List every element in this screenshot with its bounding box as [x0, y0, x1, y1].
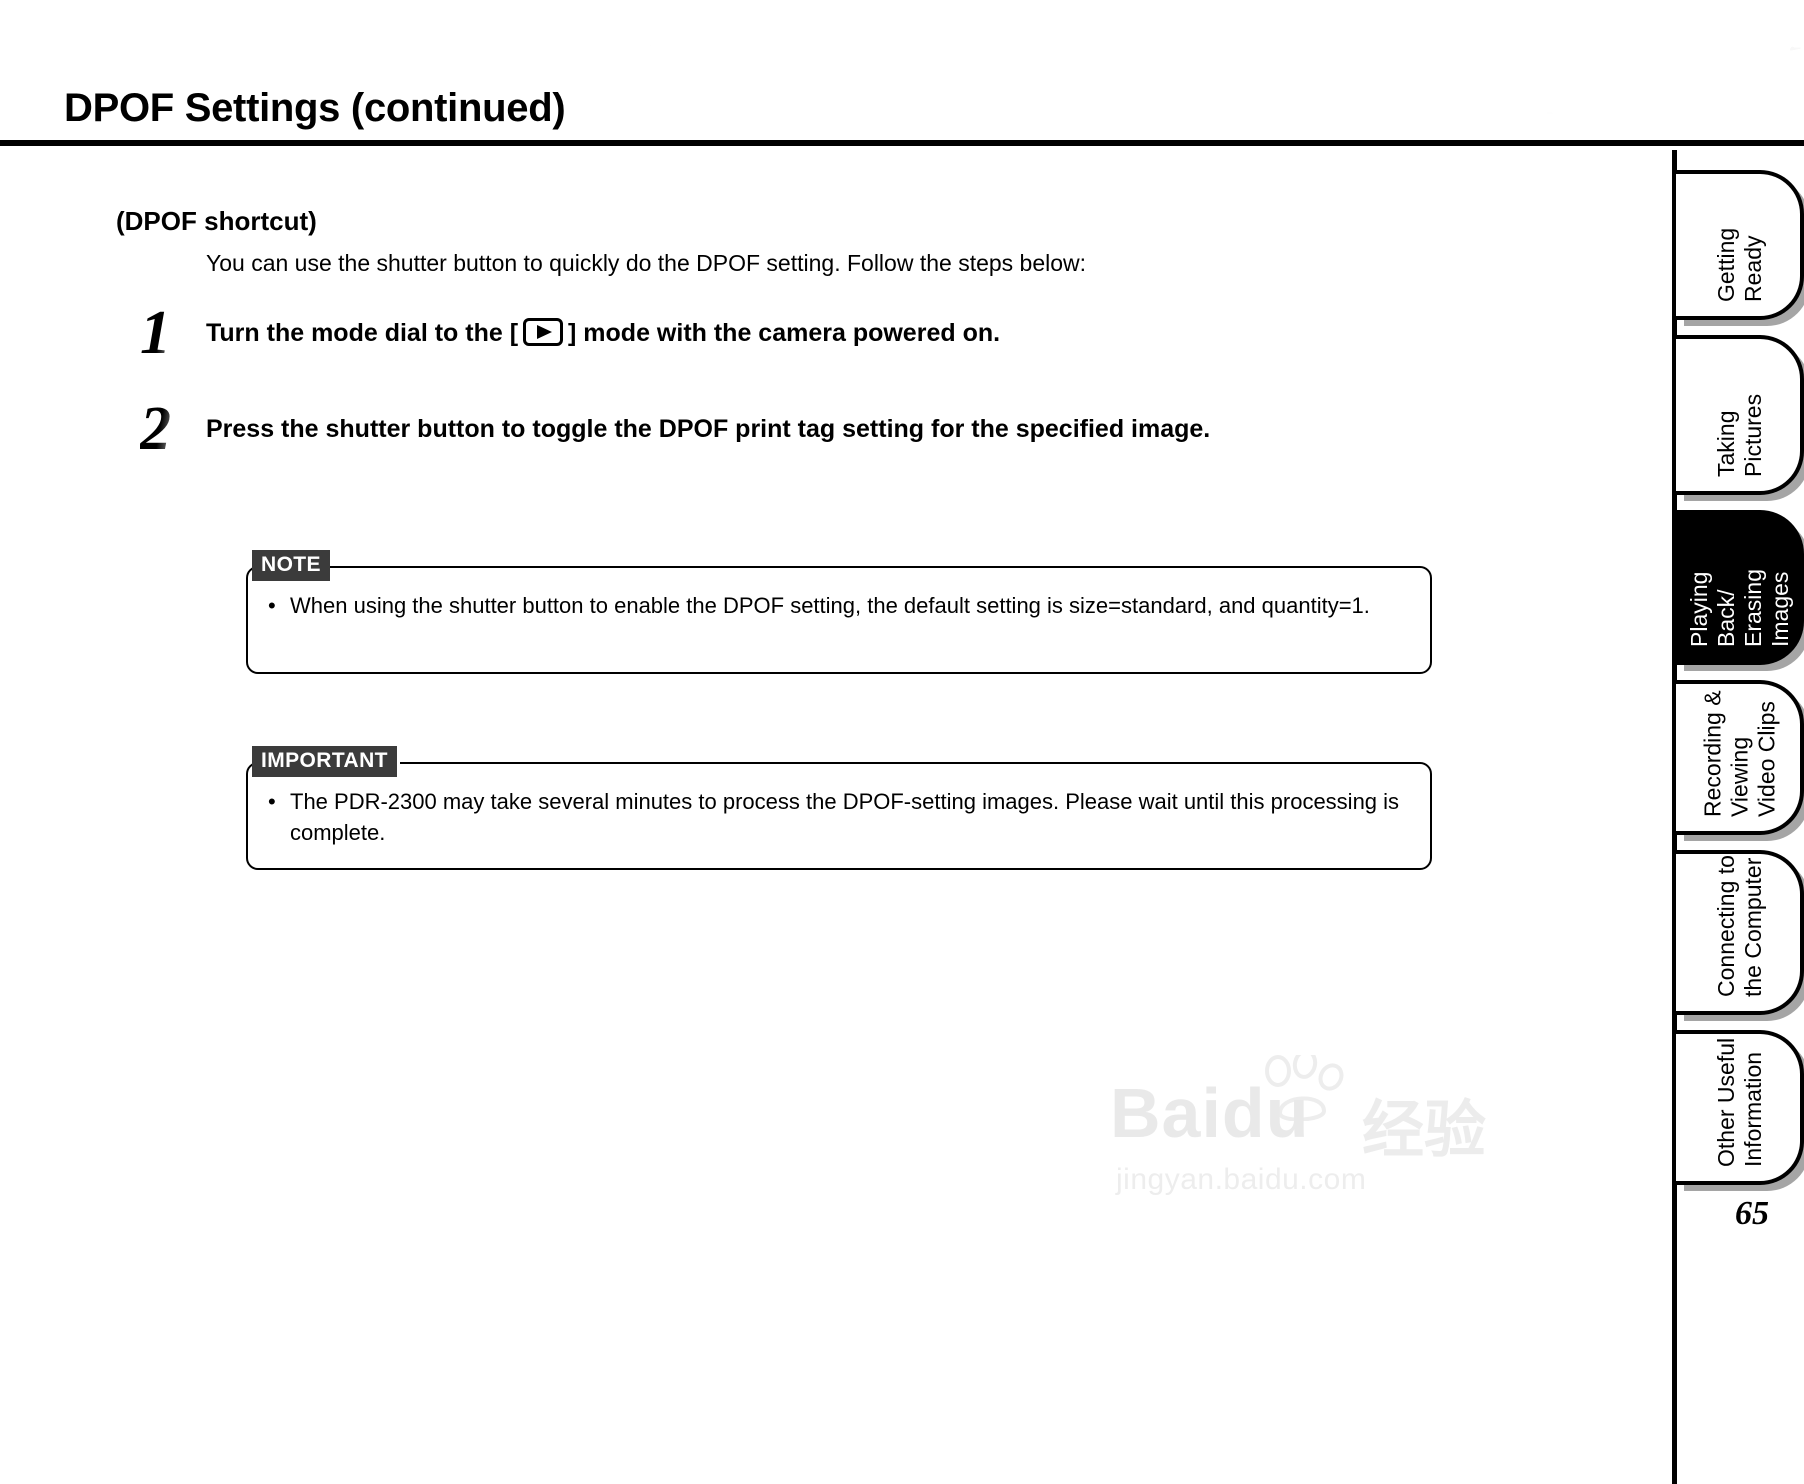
- important-bullet: •: [268, 786, 276, 817]
- section-heading: (DPOF shortcut): [116, 206, 317, 237]
- sidebar-tab-1[interactable]: Getting Ready: [1676, 170, 1804, 320]
- page-number: 65: [1735, 1195, 1769, 1233]
- note-callout: NOTE •When using the shutter button to e…: [246, 566, 1432, 674]
- note-bullet: •: [268, 590, 276, 621]
- page-header: DPOF Settings (continued): [0, 0, 1804, 146]
- sidebar-tab-label: Taking Pictures: [1682, 339, 1798, 491]
- sidebar-tab-3[interactable]: Playing Back/ Erasing Images: [1676, 510, 1804, 665]
- main-content: (DPOF shortcut) You can use the shutter …: [0, 150, 1450, 1484]
- step-text-2: Press the shutter button to toggle the D…: [206, 408, 1406, 450]
- header-corner-notch: [0, 0, 16, 140]
- sidebar-tab-label: Playing Back/ Erasing Images: [1682, 514, 1798, 661]
- note-body-text: When using the shutter button to enable …: [290, 593, 1370, 618]
- step-text-1: Turn the mode dial to the [] mode with t…: [206, 312, 1406, 354]
- note-body: •When using the shutter button to enable…: [290, 590, 1404, 621]
- important-body-text: The PDR-2300 may take several minutes to…: [290, 789, 1399, 845]
- note-tag-label: NOTE: [252, 550, 330, 581]
- step-number-1: 1: [140, 302, 202, 368]
- step-1-text-after: ] mode with the camera powered on.: [568, 319, 1000, 347]
- section-tab-sidebar: Getting ReadyTaking PicturesPlaying Back…: [1672, 150, 1804, 1340]
- step-1-text-before: Turn the mode dial to the [: [206, 319, 518, 347]
- important-callout: IMPORTANT •The PDR-2300 may take several…: [246, 762, 1432, 870]
- sidebar-tab-label: Recording & Viewing Video Clips: [1682, 684, 1798, 831]
- sidebar-tab-label: Other Useful Information: [1682, 1034, 1798, 1181]
- step-number-2: 2: [140, 398, 202, 464]
- sidebar-tab-2[interactable]: Taking Pictures: [1676, 335, 1804, 495]
- sidebar-tab-5[interactable]: Connecting to the Computer: [1676, 850, 1804, 1015]
- header-divider-rule: [0, 140, 1804, 146]
- sidebar-tab-label: Connecting to the Computer: [1682, 854, 1798, 1011]
- sidebar-tab-6[interactable]: Other Useful Information: [1676, 1030, 1804, 1185]
- intro-paragraph: You can use the shutter button to quickl…: [206, 250, 1086, 277]
- important-tag-label: IMPORTANT: [252, 746, 397, 777]
- page-title: DPOF Settings (continued): [64, 86, 565, 131]
- sidebar-tab-4[interactable]: Recording & Viewing Video Clips: [1676, 680, 1804, 835]
- important-body: •The PDR-2300 may take several minutes t…: [290, 786, 1404, 848]
- sidebar-tab-label: Getting Ready: [1682, 174, 1798, 316]
- playback-mode-icon: [523, 318, 563, 346]
